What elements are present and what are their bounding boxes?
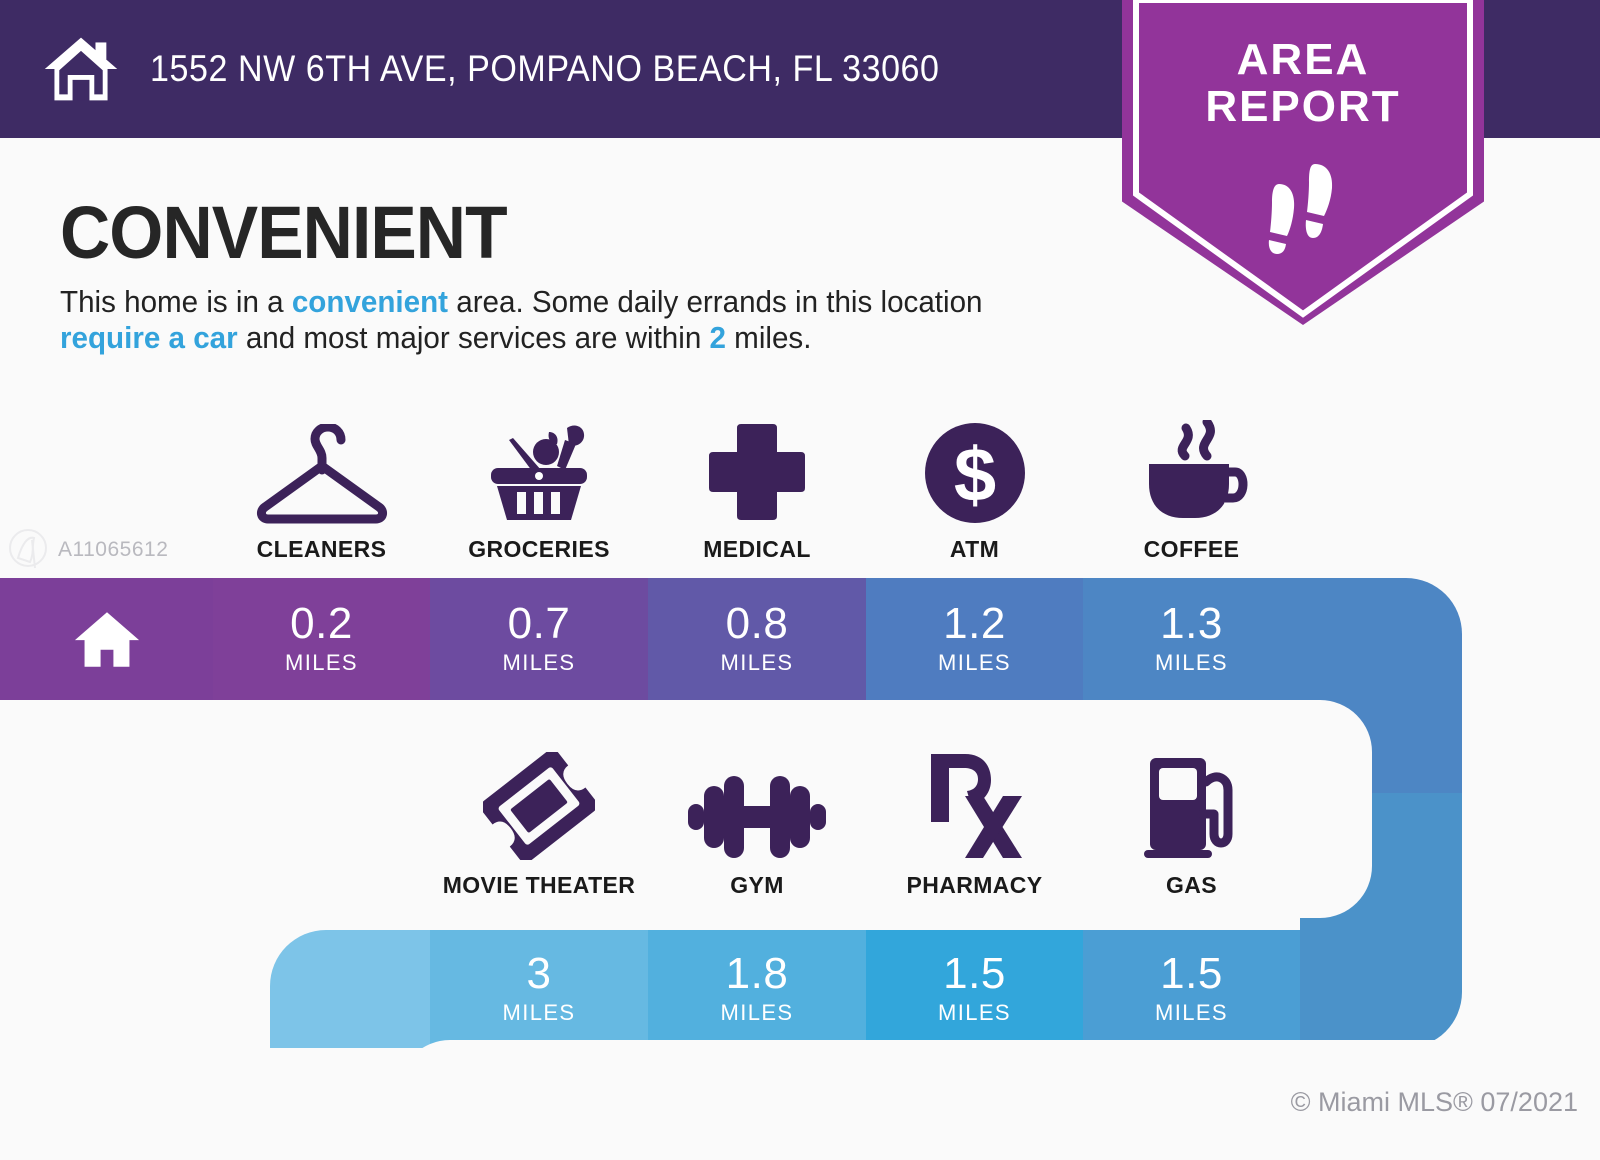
amenity-atm: $ ATM	[866, 420, 1083, 563]
distance-cell-movie-theater: 3 MILES	[430, 930, 648, 1048]
distance-value: 0.8	[726, 602, 789, 646]
badge-title: AREA REPORT	[1122, 36, 1484, 130]
amenity-label: MOVIE THEATER	[430, 872, 648, 899]
amenity-label: ATM	[866, 536, 1083, 563]
distance-value: 1.3	[1160, 602, 1223, 646]
summary-part-1: This home is in a	[60, 285, 292, 319]
amenity-label: COFFEE	[1083, 536, 1300, 563]
amenity-movie-theater: MOVIE THEATER	[430, 756, 648, 899]
distance-unit: MILES	[502, 650, 575, 676]
distance-unit: MILES	[1155, 1000, 1228, 1026]
header-content: 1552 NW 6TH AVE, POMPANO BEACH, FL 33060	[42, 0, 1008, 138]
basket-icon	[430, 420, 648, 524]
home-icon	[71, 608, 143, 670]
distance-unit: MILES	[938, 1000, 1011, 1026]
summary-part-3: and most major services are within	[238, 321, 710, 355]
gaspump-icon	[1083, 756, 1300, 860]
summary-highlight-require-car: require a car	[60, 321, 238, 355]
distance-unit: MILES	[720, 1000, 793, 1026]
distance-cell-pharmacy: 1.5 MILES	[866, 930, 1083, 1048]
distance-value: 0.2	[290, 602, 353, 646]
summary-highlight-convenient: convenient	[292, 285, 448, 319]
mls-id: A11065612	[58, 538, 168, 562]
summary-part-4: miles.	[726, 321, 811, 355]
rx-icon	[866, 756, 1083, 860]
distance-cell-medical: 0.8 MILES	[648, 578, 866, 700]
distance-cell-gym: 1.8 MILES	[648, 930, 866, 1048]
distance-value: 1.8	[726, 952, 789, 996]
svg-text:$: $	[953, 433, 995, 518]
amenity-gas: GAS	[1083, 756, 1300, 899]
cross-icon	[648, 420, 866, 524]
distance-value: 3	[527, 952, 552, 996]
amenity-pharmacy: PHARMACY	[866, 756, 1083, 899]
distance-cell-coffee: 1.3 MILES	[1083, 578, 1300, 700]
area-report-page: 1552 NW 6TH AVE, POMPANO BEACH, FL 33060…	[0, 0, 1600, 1132]
badge-line-2: REPORT	[1122, 83, 1484, 130]
distance-value: 0.7	[508, 602, 571, 646]
dumbbell-icon	[648, 756, 866, 860]
distance-unit: MILES	[1155, 650, 1228, 676]
summary-part-2: area. Some daily errands in this locatio…	[448, 285, 982, 319]
badge-line-1: AREA	[1122, 36, 1484, 83]
distance-cell-groceries: 0.7 MILES	[430, 578, 648, 700]
summary-highlight-miles: 2	[710, 321, 726, 355]
ticket-icon	[430, 756, 648, 860]
track-lead-row2	[270, 930, 430, 1048]
amenity-label: GAS	[1083, 872, 1300, 899]
amenity-coffee: COFFEE	[1083, 420, 1300, 563]
summary-text: This home is in a convenient area. Some …	[60, 284, 1040, 356]
distance-cell-cleaners: 0.2 MILES	[213, 578, 430, 700]
home-cell	[0, 578, 213, 700]
distance-unit: MILES	[720, 650, 793, 676]
distance-value: 1.5	[943, 952, 1006, 996]
distance-value: 1.5	[1160, 952, 1223, 996]
amenity-gym: GYM	[648, 756, 866, 899]
amenity-label: MEDICAL	[648, 536, 866, 563]
mls-watermark: A11065612	[8, 528, 168, 572]
amenity-medical: MEDICAL	[648, 420, 866, 563]
amenity-groceries: GROCERIES	[430, 420, 648, 563]
distance-unit: MILES	[285, 650, 358, 676]
footprints-icon	[1255, 162, 1353, 254]
amenity-cleaners: CLEANERS	[213, 420, 430, 563]
amenity-label: GROCERIES	[430, 536, 648, 563]
distance-cell-gas: 1.5 MILES	[1083, 930, 1300, 1048]
distance-unit: MILES	[502, 1000, 575, 1026]
hanger-icon	[213, 420, 430, 524]
page-title: CONVENIENT	[60, 190, 507, 275]
dollar-icon: $	[866, 420, 1083, 524]
distance-value: 1.2	[943, 602, 1006, 646]
amenity-label: CLEANERS	[213, 536, 430, 563]
home-icon	[42, 34, 120, 104]
amenity-label: PHARMACY	[866, 872, 1083, 899]
copyright-text: © Miami MLS® 07/2021	[1291, 1087, 1578, 1118]
coffee-icon	[1083, 420, 1300, 524]
distance-cell-atm: 1.2 MILES	[866, 578, 1083, 700]
distance-unit: MILES	[938, 650, 1011, 676]
amenity-label: GYM	[648, 872, 866, 899]
mls-logo-icon	[8, 528, 50, 572]
property-address: 1552 NW 6TH AVE, POMPANO BEACH, FL 33060	[150, 48, 940, 90]
